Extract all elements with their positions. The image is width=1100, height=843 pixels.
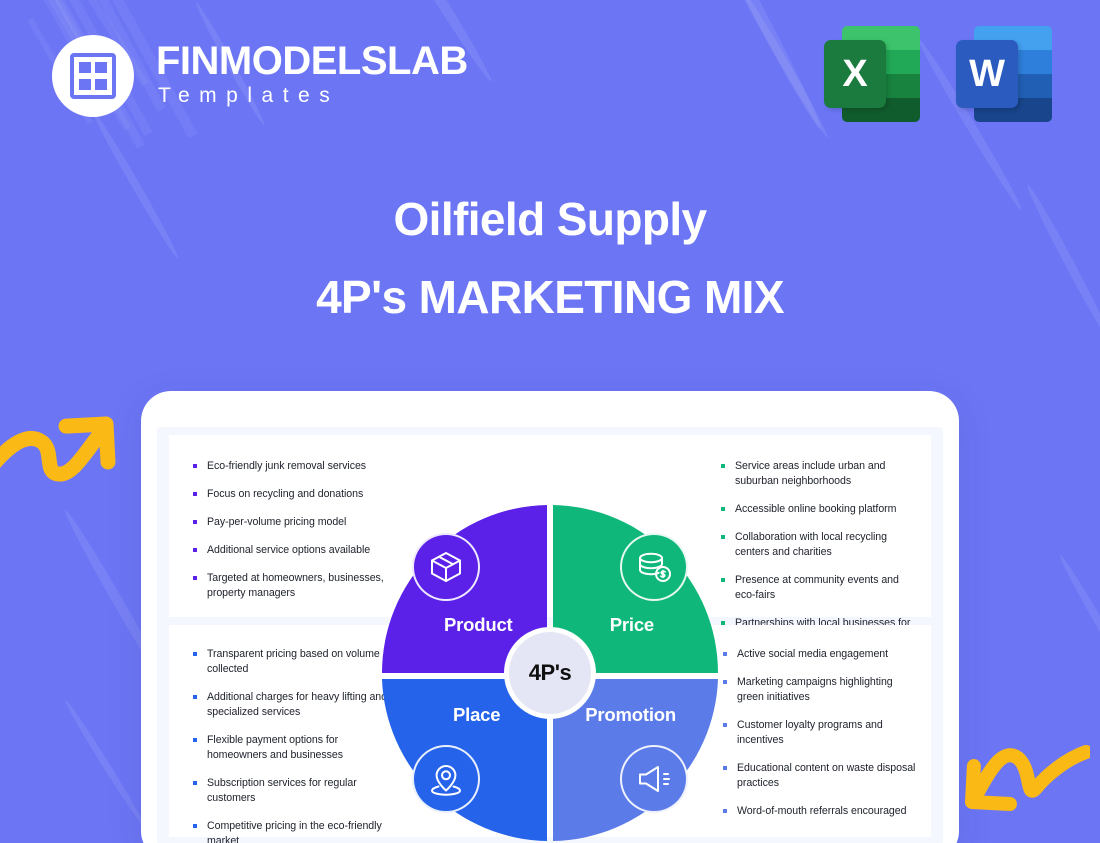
brand-name: FINMODELSLAB: [156, 41, 468, 82]
squiggle-arrow-down-left: [958, 738, 1090, 824]
word-icon[interactable]: W: [956, 26, 1052, 122]
title-line-1: Oilfield Supply: [0, 196, 1100, 242]
excel-icon-letter: X: [824, 40, 886, 108]
list-item: Additional service options available: [191, 543, 387, 558]
title-line-2: 4P's MARKETING MIX: [0, 274, 1100, 320]
list-item: Flexible payment options for homeowners …: [191, 733, 387, 763]
list-item: Pay-per-volume pricing model: [191, 515, 387, 530]
location-pin-icon: [412, 745, 480, 813]
list-item: Transparent pricing based on volume coll…: [191, 647, 387, 677]
list-item: Targeted at homeowners, businesses, prop…: [191, 571, 387, 601]
marketing-mix-board: Eco-friendly junk removal services Focus…: [169, 435, 931, 837]
list-item: Additional charges for heavy lifting and…: [191, 690, 387, 720]
place-column: Transparent pricing based on volume coll…: [169, 625, 394, 837]
brand-logo[interactable]: FINMODELSLAB Templates: [52, 35, 468, 117]
list-item: Accessible online booking platform: [719, 502, 919, 517]
list-item: Marketing campaigns highlighting green i…: [721, 675, 919, 705]
coins-dollar-icon: [620, 533, 688, 601]
four-ps-wheel: Product Price Place Promotion: [376, 499, 724, 843]
logo-text-block: FINMODELSLAB Templates: [156, 41, 468, 110]
price-bullet-list: Service areas include urban and suburban…: [719, 459, 919, 646]
wheel-label-promotion: Promotion: [585, 704, 676, 726]
list-item: Customer loyalty programs and incentives: [721, 718, 919, 748]
promotion-bullet-list: Active social media engagement Marketing…: [721, 647, 919, 819]
product-bullet-list: Eco-friendly junk removal services Focus…: [191, 459, 387, 601]
product-column: Eco-friendly junk removal services Focus…: [169, 435, 394, 617]
squiggle-arrow-up-right: [0, 404, 118, 486]
list-item: Educational content on waste disposal pr…: [721, 761, 919, 791]
content-card: Eco-friendly junk removal services Focus…: [141, 391, 959, 843]
card-inner-panel: Eco-friendly junk removal services Focus…: [157, 427, 943, 843]
list-item: Competitive pricing in the eco-friendly …: [191, 819, 387, 843]
office-icons-group: X W: [824, 26, 1052, 122]
wheel-label-price: Price: [610, 614, 654, 636]
wheel-center-label: 4P's: [504, 627, 596, 719]
list-item: Active social media engagement: [721, 647, 919, 662]
list-item: Eco-friendly junk removal services: [191, 459, 387, 474]
page-header: FINMODELSLAB Templates X W: [0, 0, 1100, 150]
wheel-label-product: Product: [444, 614, 513, 636]
list-item: Collaboration with local recycling cente…: [719, 530, 919, 560]
logo-badge: [52, 35, 134, 117]
wheel-label-place: Place: [453, 704, 500, 726]
price-column: Service areas include urban and suburban…: [706, 435, 931, 617]
package-box-icon: [412, 533, 480, 601]
list-item: Word-of-mouth referrals encouraged: [721, 804, 919, 819]
list-item: Subscription services for regular custom…: [191, 776, 387, 806]
brand-subtitle: Templates: [156, 82, 468, 110]
list-item: Focus on recycling and donations: [191, 487, 387, 502]
list-item: Presence at community events and eco-fai…: [719, 573, 919, 603]
place-bullet-list: Transparent pricing based on volume coll…: [191, 647, 387, 843]
page-title: Oilfield Supply 4P's MARKETING MIX: [0, 196, 1100, 320]
excel-icon[interactable]: X: [824, 26, 920, 122]
grid-four-panes-icon: [70, 53, 116, 99]
promotion-column: Active social media engagement Marketing…: [706, 625, 931, 837]
list-item: Service areas include urban and suburban…: [719, 459, 919, 489]
megaphone-icon: [620, 745, 688, 813]
word-icon-letter: W: [956, 40, 1018, 108]
